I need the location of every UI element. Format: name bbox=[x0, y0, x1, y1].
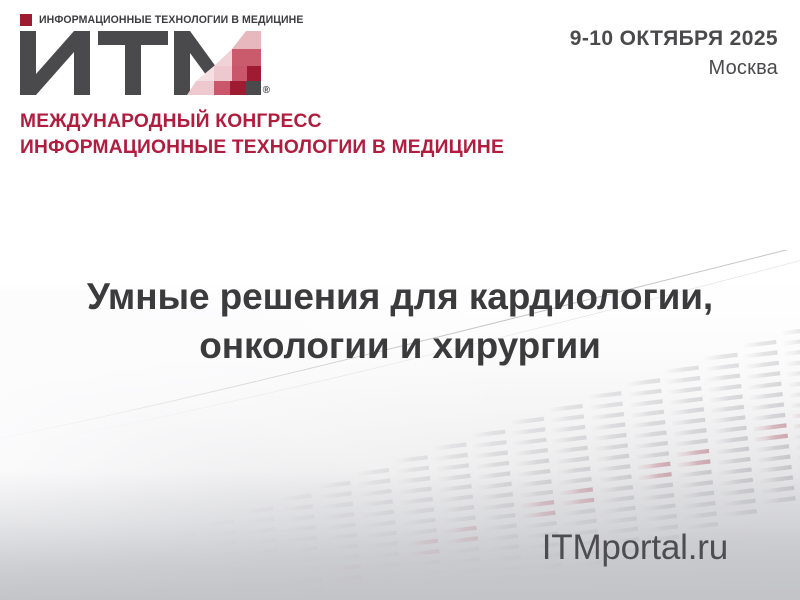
event-dates: 9-10 ОКТЯБРЯ 2025 bbox=[570, 27, 778, 51]
headline-line1: Умные решения для кардиологии, bbox=[40, 272, 760, 321]
website-url[interactable]: ITMportal.ru bbox=[542, 528, 728, 568]
congress-title: МЕЖДУНАРОДНЫЙ КОНГРЕСС ИНФОРМАЦИОННЫЕ ТЕ… bbox=[20, 108, 598, 160]
itm-logo-block[interactable]: ИНФОРМАЦИОННЫЕ ТЕХНОЛОГИИ В МЕДИЦИНЕ bbox=[18, 14, 598, 160]
event-city: Москва bbox=[570, 57, 778, 80]
congress-banner: ИНФОРМАЦИОННЫЕ ТЕХНОЛОГИИ В МЕДИЦИНЕ bbox=[0, 0, 800, 600]
congress-title-line2: ИНФОРМАЦИОННЫЕ ТЕХНОЛОГИИ В МЕДИЦИНЕ bbox=[20, 134, 589, 160]
logo-tagline: ИНФОРМАЦИОННЫЕ ТЕХНОЛОГИИ В МЕДИЦИНЕ bbox=[20, 14, 598, 26]
event-date-block: 9-10 ОКТЯБРЯ 2025 Москва bbox=[570, 27, 778, 80]
logo-tagline-text: ИНФОРМАЦИОННЫЕ ТЕХНОЛОГИИ В МЕДИЦИНЕ bbox=[39, 14, 303, 26]
banner-content: ИНФОРМАЦИОННЫЕ ТЕХНОЛОГИИ В МЕДИЦИНЕ bbox=[0, 0, 800, 600]
main-headline: Умные решения для кардиологии, онкологии… bbox=[0, 272, 800, 370]
congress-title-line1: МЕЖДУНАРОДНЫЙ КОНГРЕСС bbox=[20, 108, 589, 134]
registered-trademark-icon: ® bbox=[263, 85, 270, 96]
red-square-icon bbox=[20, 14, 32, 26]
headline-line2: онкологии и хирургии bbox=[40, 321, 760, 370]
itm-wordmark: ® bbox=[18, 27, 268, 99]
